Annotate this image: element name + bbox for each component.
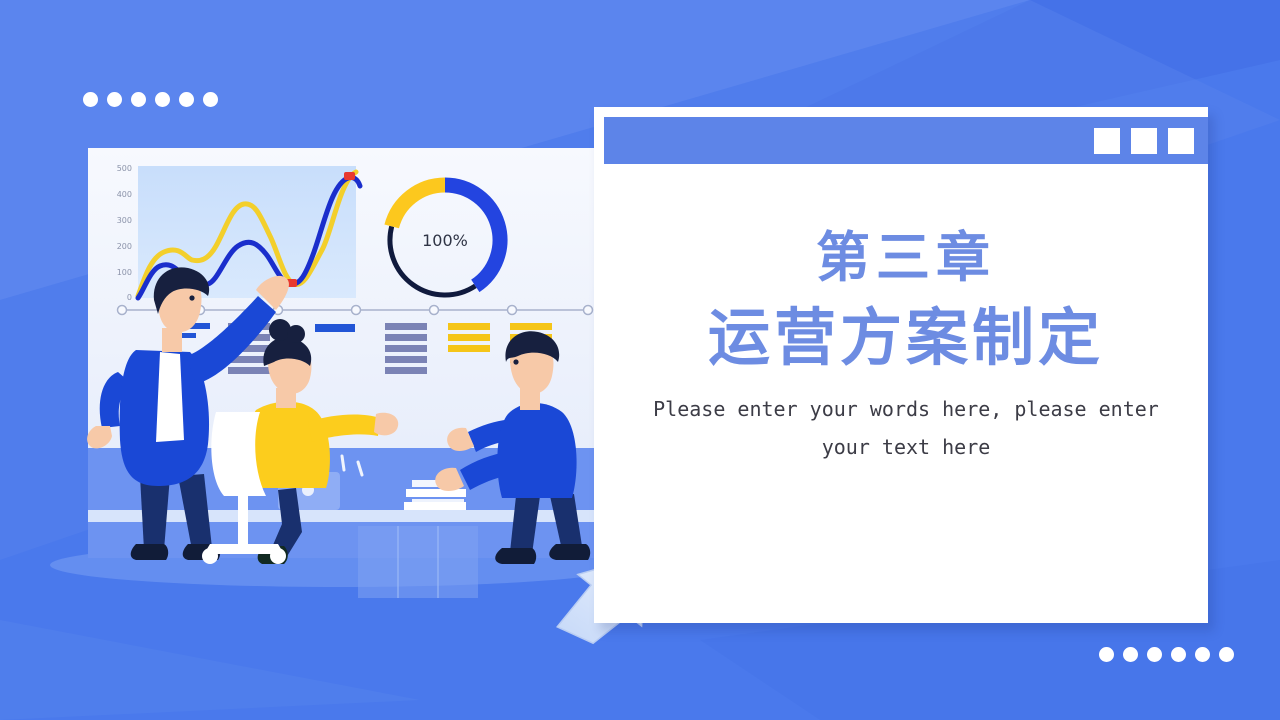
donut-center-label: 100%: [422, 231, 468, 250]
line-chart: 500 400 300 200 100 0: [117, 164, 360, 302]
timeline-node: [508, 306, 517, 315]
card-titlebar: [604, 117, 1208, 164]
svg-text:200: 200: [117, 242, 132, 251]
decor-dot: [1195, 647, 1210, 662]
timeline-node: [118, 306, 127, 315]
maximize-button[interactable]: [1131, 128, 1157, 154]
decor-dot: [179, 92, 194, 107]
seated-top: [251, 402, 330, 488]
close-button[interactable]: [1168, 128, 1194, 154]
decor-dot: [1123, 647, 1138, 662]
content-card: 第三章 运营方案制定 Please enter your words here,…: [594, 107, 1208, 623]
walk-eye: [513, 359, 518, 364]
window-controls: [1094, 128, 1194, 154]
bar-group-blue-short: [315, 324, 355, 332]
eye: [189, 295, 194, 300]
decor-dot: [203, 92, 218, 107]
svg-text:500: 500: [117, 164, 132, 173]
svg-text:100: 100: [117, 268, 132, 277]
dashboard-illustration: 500 400 300 200 100 0: [40, 140, 650, 600]
decor-dot: [1219, 647, 1234, 662]
chapter-label: 第三章: [816, 230, 996, 287]
decor-dots-bottom-right: [1099, 647, 1234, 662]
decor-dot: [155, 92, 170, 107]
cabinet: [358, 526, 478, 598]
bar-group-yellow: [448, 323, 490, 352]
chair-stem: [238, 496, 248, 544]
svg-text:300: 300: [117, 216, 132, 225]
decor-dot: [83, 92, 98, 107]
shoe-back: [131, 544, 168, 560]
svg-text:0: 0: [127, 293, 132, 302]
timeline-node: [352, 306, 361, 315]
walk-torso: [497, 403, 576, 498]
chapter-title: 运营方案制定: [708, 303, 1104, 372]
decor-dot: [1099, 647, 1114, 662]
chair-wheel: [270, 548, 286, 564]
seated-bun-2: [287, 325, 305, 343]
decor-dot: [131, 92, 146, 107]
decor-dot: [1147, 647, 1162, 662]
timeline-node: [584, 306, 593, 315]
seated-bun: [269, 319, 291, 341]
chair-wheel: [202, 548, 218, 564]
shirt: [156, 352, 184, 442]
card-body: 第三章 运营方案制定 Please enter your words here,…: [604, 164, 1208, 618]
presentation-slide: 500 400 300 200 100 0: [0, 0, 1280, 720]
svg-text:400: 400: [117, 190, 132, 199]
decor-dot: [107, 92, 122, 107]
card-subtitle: Please enter your words here, please ent…: [646, 390, 1166, 466]
minimize-button[interactable]: [1094, 128, 1120, 154]
decor-dot: [1171, 647, 1186, 662]
decor-dots-top-left: [83, 92, 218, 107]
walk-shoe-back: [495, 548, 536, 564]
timeline-node: [430, 306, 439, 315]
intersection-marker: [344, 172, 355, 180]
